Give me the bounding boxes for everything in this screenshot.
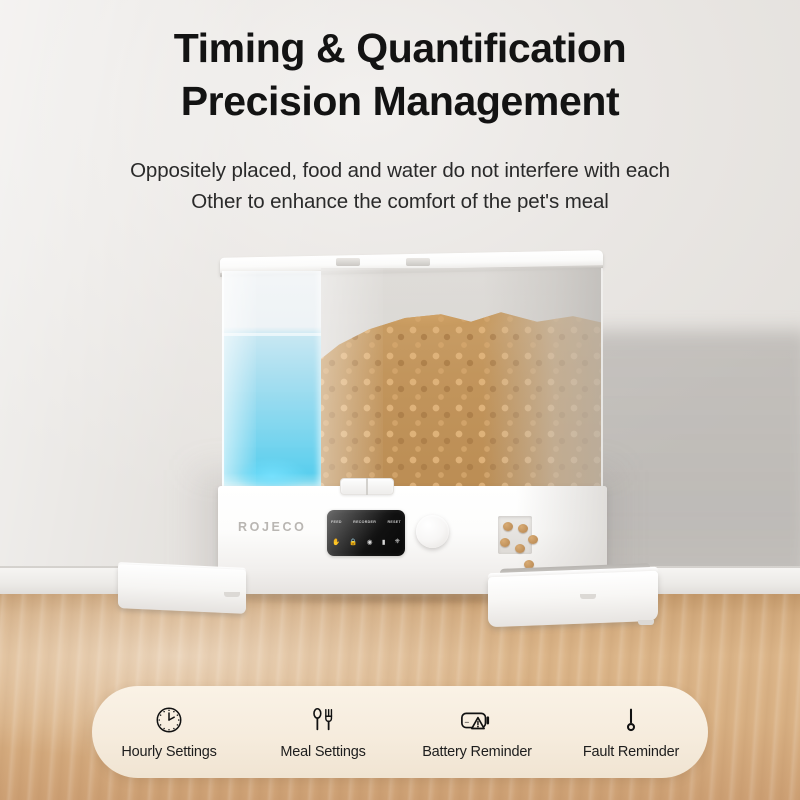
falling-kibble — [515, 544, 525, 553]
display-glare — [327, 510, 405, 556]
feature-label: Meal Settings — [280, 744, 365, 760]
falling-kibble — [518, 524, 528, 533]
feature-battery-reminder[interactable]: Battery Reminder — [400, 705, 554, 760]
lid-hinge-left — [336, 258, 360, 266]
feeder-foot — [580, 594, 596, 599]
lid-latch-divider — [366, 478, 368, 495]
display-button-labels: FEED RECORDER RESET — [331, 520, 401, 524]
water-level-line — [222, 333, 321, 336]
battery-warning-icon — [460, 705, 494, 735]
battery-icon: ▮ — [382, 538, 386, 546]
pet-feeder-product: ROJECO FEED RECORDER RESET ✋ 🔒 ◉ ▮ ⎈ — [118, 252, 678, 624]
hand-icon: ✋ — [332, 538, 340, 546]
page-subtitle: Oppositely placed, food and water do not… — [0, 155, 800, 217]
feature-label: Fault Reminder — [583, 744, 679, 760]
feature-label: Battery Reminder — [422, 744, 532, 760]
food-bowl — [488, 571, 658, 628]
lock-icon: 🔒 — [349, 538, 357, 546]
brand-logo: ROJECO — [238, 520, 306, 534]
falling-kibble — [528, 535, 538, 544]
headline-line-1: Timing & Quantification — [0, 22, 800, 75]
exclamation-icon — [616, 705, 646, 735]
display-label-recorder: RECORDER — [353, 520, 376, 524]
text-block: Timing & Quantification Precision Manage… — [0, 22, 800, 217]
subheadline-line-1: Oppositely placed, food and water do not… — [0, 155, 800, 186]
feeder-foot — [224, 592, 240, 597]
hopper-gloss — [321, 268, 383, 489]
water-tank-glow — [230, 438, 314, 486]
display-label-reset: RESET — [388, 520, 401, 524]
water-bowl — [118, 564, 246, 614]
clock-icon — [154, 705, 184, 735]
headline-line-2: Precision Management — [0, 75, 800, 128]
feature-hourly-settings[interactable]: Hourly Settings — [92, 705, 246, 760]
wifi-icon: ◉ — [367, 538, 373, 546]
bowl-foot — [638, 620, 654, 625]
feature-bar: Hourly Settings Meal Settings — [92, 686, 708, 778]
subheadline-line-2: Other to enhance the comfort of the pet'… — [0, 186, 800, 217]
falling-kibble — [503, 522, 513, 531]
power-icon: ⎈ — [395, 538, 400, 546]
display-status-icons: ✋ 🔒 ◉ ▮ ⎈ — [332, 538, 400, 546]
hopper-shading — [483, 268, 601, 489]
falling-kibble — [500, 538, 510, 547]
control-knob[interactable] — [416, 515, 449, 548]
cutlery-icon — [308, 705, 338, 735]
feature-meal-settings[interactable]: Meal Settings — [246, 705, 400, 760]
food-hopper — [321, 268, 603, 489]
product-banner: Timing & Quantification Precision Manage… — [0, 0, 800, 800]
feature-fault-reminder[interactable]: Fault Reminder — [554, 705, 708, 760]
lid-hinge-right — [406, 258, 430, 266]
page-title: Timing & Quantification Precision Manage… — [0, 22, 800, 129]
feature-label: Hourly Settings — [121, 744, 216, 760]
display-label-feed: FEED — [331, 520, 342, 524]
